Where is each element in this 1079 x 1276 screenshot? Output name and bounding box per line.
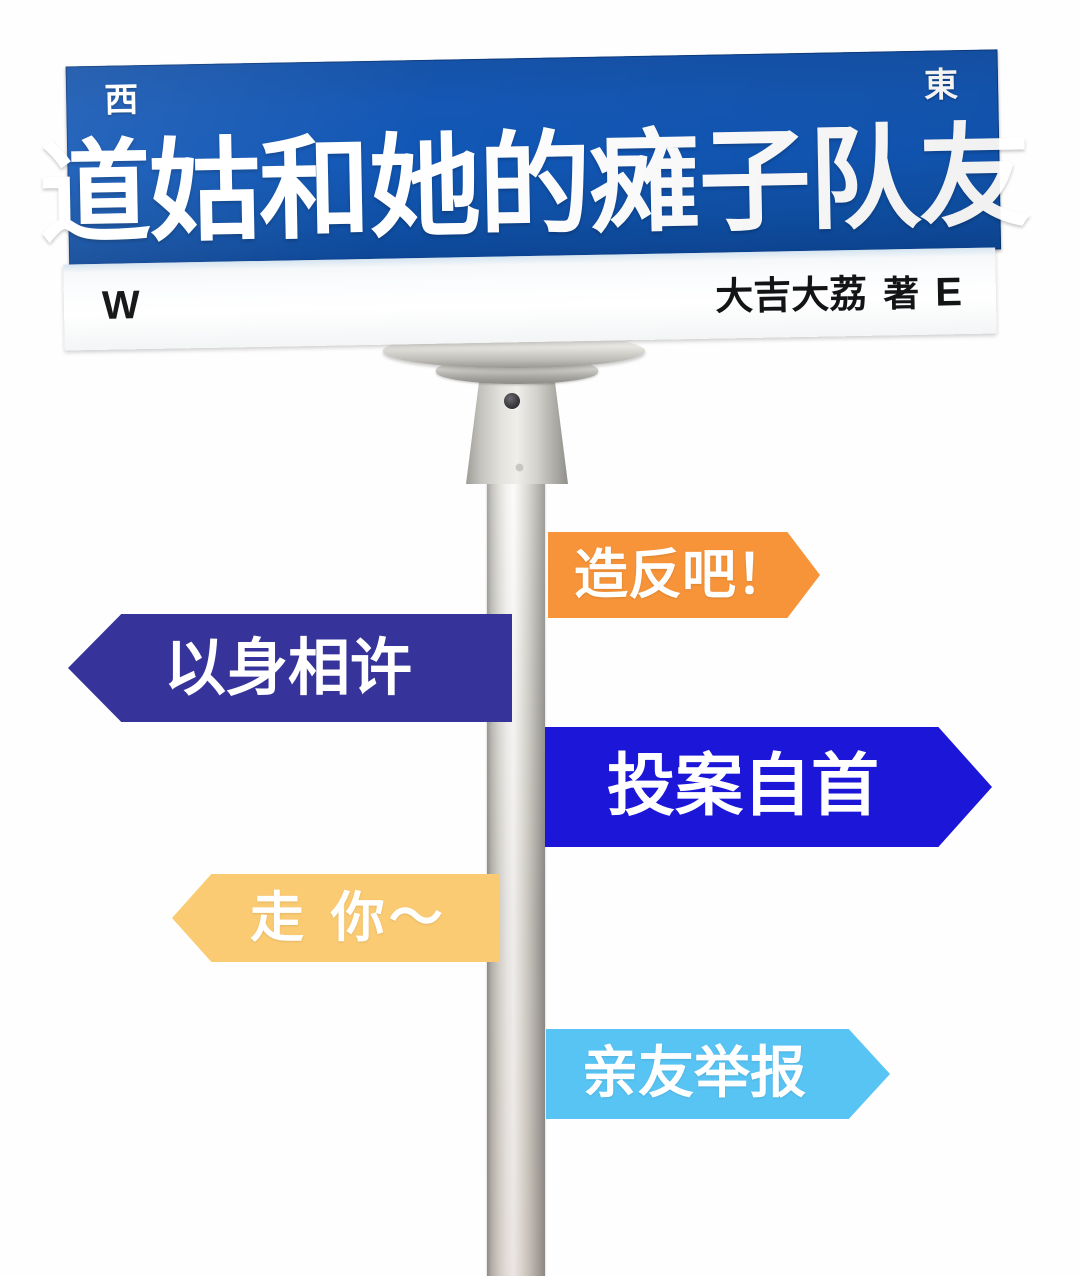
byline: 大吉大荔 著 E [715,272,962,317]
book-title: 道姑和她的瘫子队友 [77,116,991,257]
arrow-banner-zouni-label: 走 你～ [172,891,500,945]
direction-label-east-cn: 東 [924,68,959,103]
arrow-banner-touan: 投案自首 [545,727,992,847]
sign-blue-panel: 西 東 道姑和她的瘫子队友 [66,49,1002,266]
arrow-banner-touan-label: 投案自首 [545,753,992,821]
pole-shaft [487,470,545,1276]
image-canvas: 西 東 道姑和她的瘫子队友 W 大吉大荔 著 E 造反吧！ 以身相许 投案自首 … [0,0,1079,1276]
pole-rivet-icon [516,464,523,471]
arrow-banner-yishen: 以身相许 [68,614,512,722]
arrow-banner-zaofan-label: 造反吧！ [548,548,820,602]
arrow-banner-qinyou: 亲友举报 [546,1029,890,1119]
direction-label-west-cn: 西 [104,83,139,118]
direction-label-west-en: W [102,285,140,326]
street-sign-board: 西 東 道姑和她的瘫子队友 W 大吉大荔 著 E [57,31,1002,353]
author-name: 大吉大荔 [715,275,868,316]
arrow-banner-qinyou-label: 亲友举报 [546,1046,890,1102]
sign-white-panel: W 大吉大荔 著 E [63,247,996,350]
author-suffix: 著 [883,277,920,314]
arrow-banner-zaofan: 造反吧！ [548,532,820,618]
direction-label-east-en: E [935,272,962,312]
arrow-banner-yishen-label: 以身相许 [68,637,512,699]
pole-bolt-icon [504,393,520,409]
arrow-banner-zouni: 走 你～ [172,874,500,962]
